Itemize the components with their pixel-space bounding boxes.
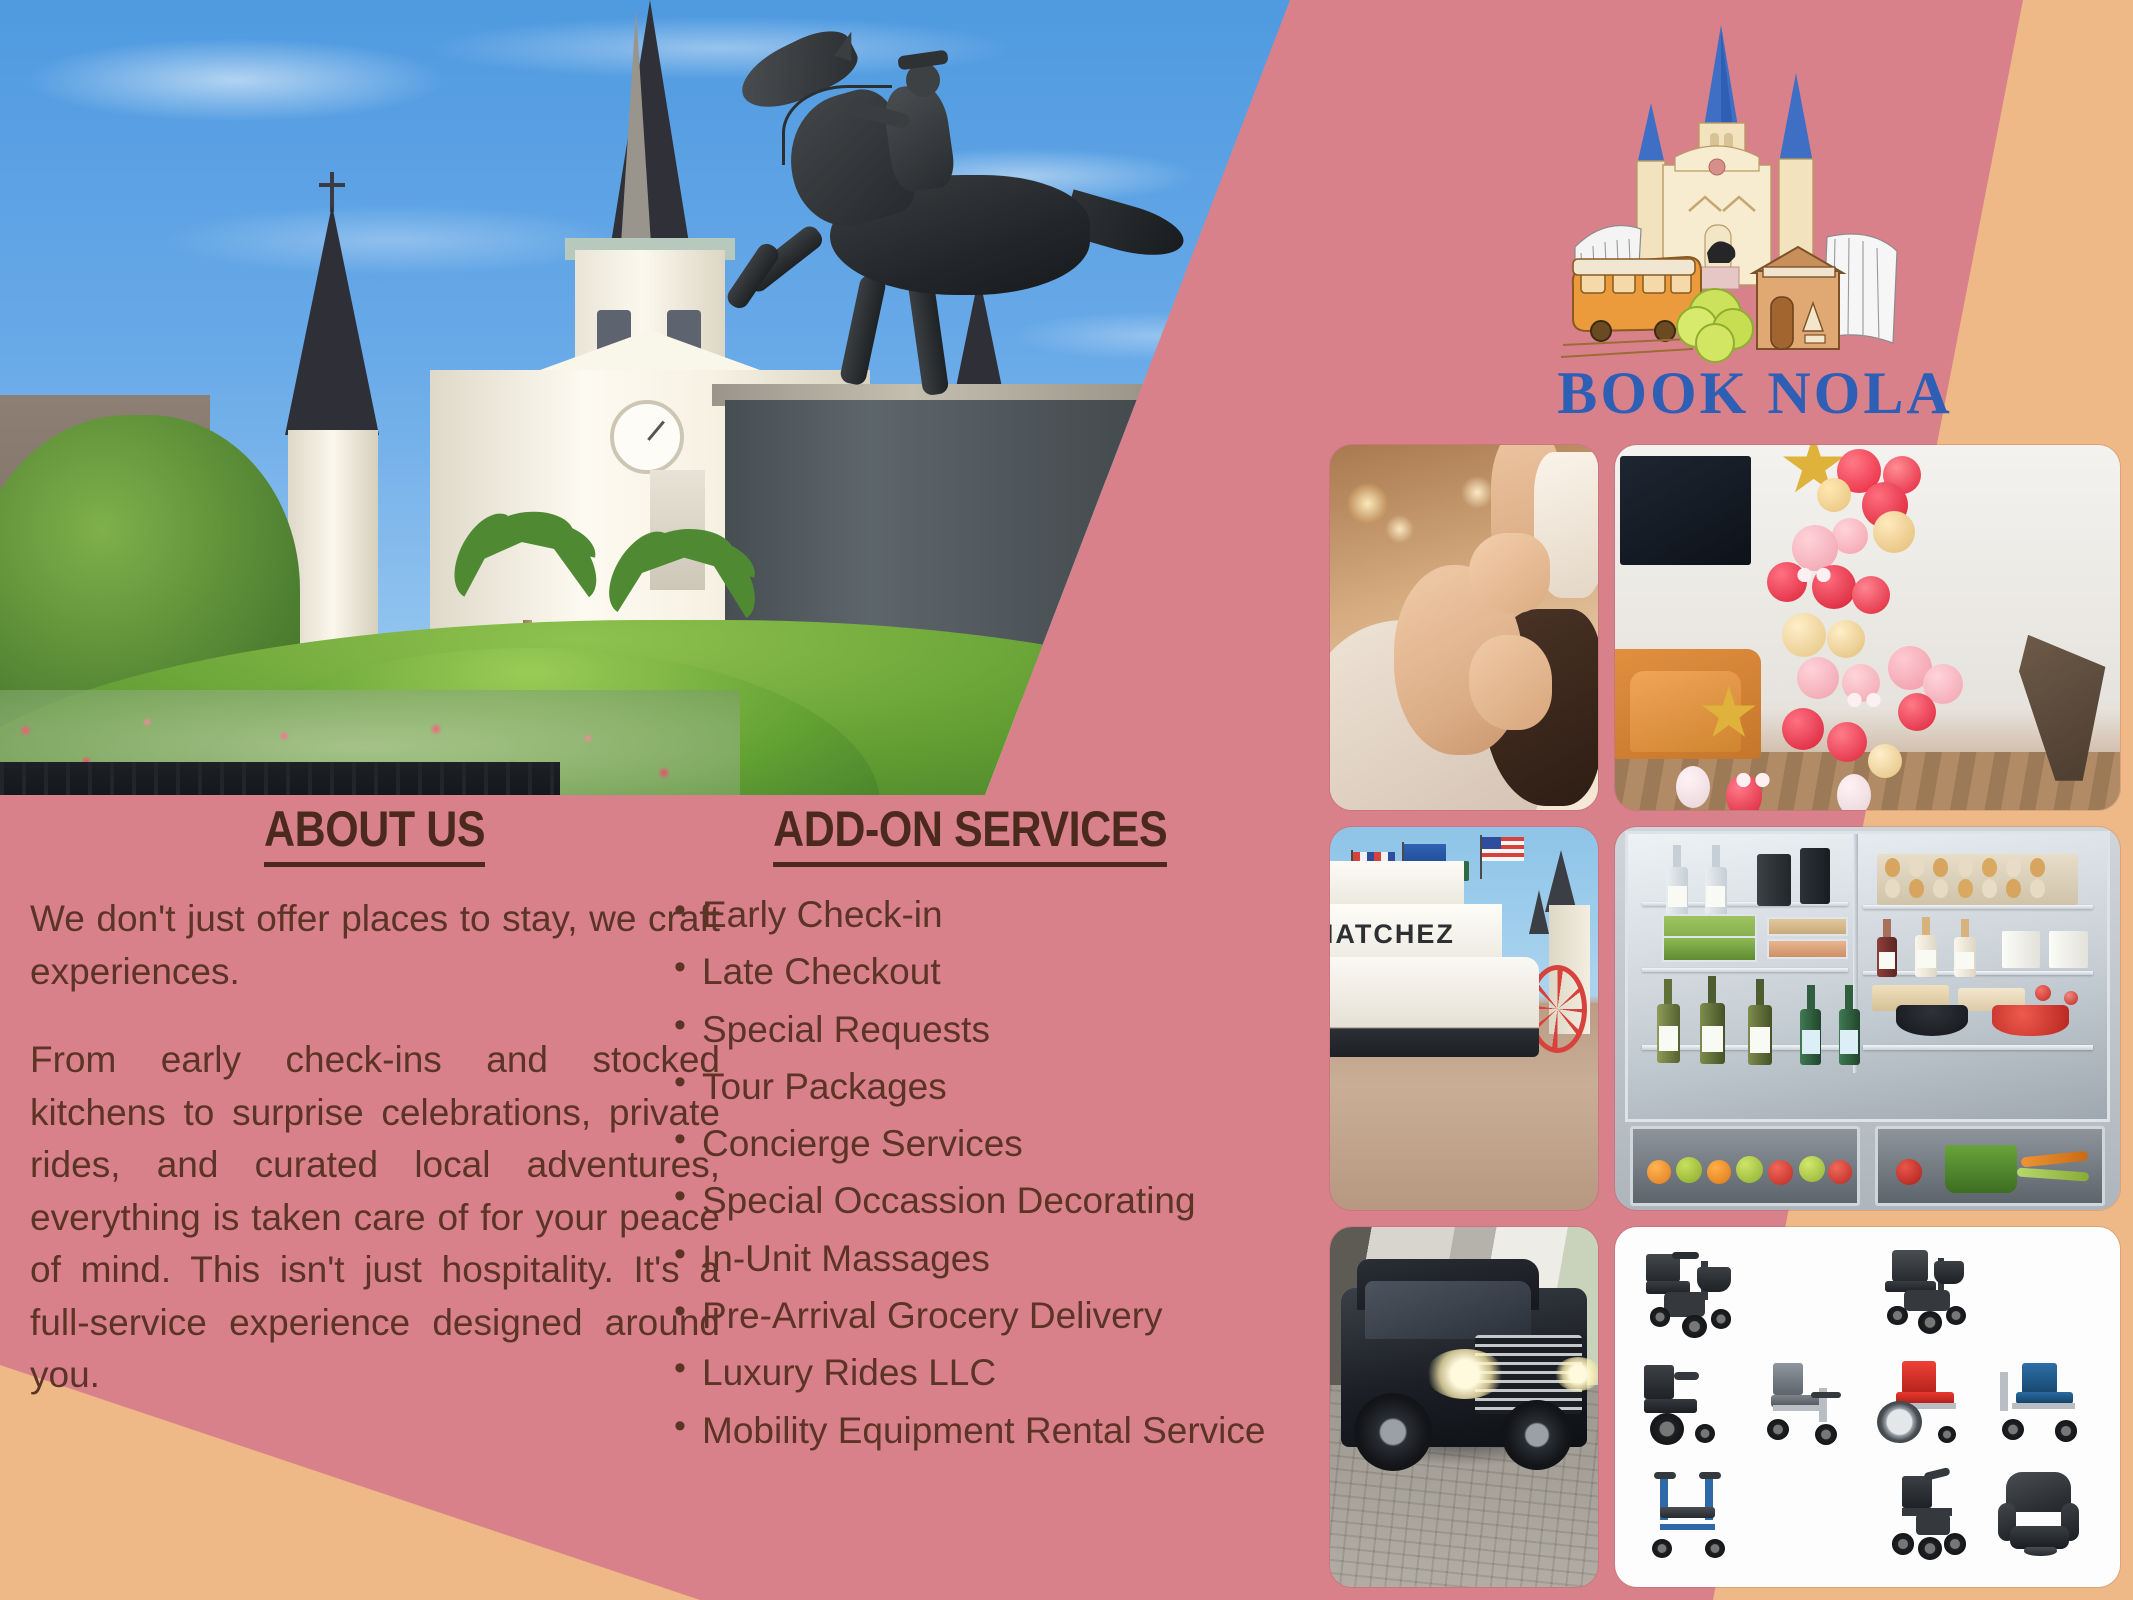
chair-frame — [1773, 1405, 1825, 1411]
chair-backrest — [1902, 1361, 1936, 1394]
gallery-grid: NATCHEZ — [1330, 445, 2120, 1590]
scooter-tiller — [1672, 1252, 1698, 1260]
services-heading-container: ADD-ON SERVICES — [670, 800, 1270, 867]
bread-container — [1767, 917, 1848, 937]
greens-container — [1662, 936, 1758, 962]
transport-wheelchair-grey — [1752, 1352, 1867, 1461]
fridge-shelf — [1863, 905, 2093, 909]
flag-canton — [1482, 837, 1500, 849]
wheelchair-red — [1869, 1352, 1984, 1461]
scooter-wheel — [1918, 1311, 1942, 1334]
chair-wheel — [2002, 1419, 2024, 1440]
yogurt-tub — [2049, 931, 2087, 968]
list-item[interactable]: Special Requests — [670, 1008, 1270, 1051]
champagne-bottle — [1748, 979, 1772, 1065]
knee-scooter — [1869, 1464, 1984, 1573]
suv-windshield — [1365, 1281, 1531, 1339]
chair-backrest — [1644, 1365, 1674, 1400]
power-wheelchair — [1635, 1352, 1750, 1461]
vegetable-drawer — [1875, 1126, 2105, 1206]
wheelchair-blue — [1985, 1352, 2100, 1461]
egg — [1958, 858, 1973, 877]
chair-caster — [1938, 1426, 1956, 1443]
egg — [1885, 879, 1900, 898]
fridge-shelf — [1863, 1045, 2093, 1050]
scooter-wheel — [1918, 1537, 1942, 1560]
walker-grip — [1654, 1472, 1676, 1479]
green-apple — [1799, 1156, 1825, 1182]
chair-wheel — [1767, 1419, 1789, 1440]
bottle-label — [1917, 950, 1935, 968]
gallery-item-spa-massage[interactable] — [1330, 445, 1598, 810]
egg — [1909, 858, 1924, 877]
egg — [1885, 858, 1900, 877]
balloon — [1792, 525, 1838, 571]
mobility-spacer — [1752, 1241, 1867, 1350]
recliner-base — [2024, 1547, 2056, 1557]
cathedral-spire-bg — [1545, 850, 1577, 912]
balloon — [1797, 657, 1839, 699]
egg — [2006, 879, 2021, 898]
chair-caster — [2055, 1420, 2077, 1441]
lift-recliner-chair — [1985, 1464, 2100, 1573]
rollator-walker — [1635, 1464, 1750, 1573]
walker-seat — [1660, 1507, 1714, 1519]
bottle — [1705, 845, 1727, 917]
list-item[interactable]: Tour Packages — [670, 1065, 1270, 1108]
fruit-drawer — [1630, 1126, 1860, 1206]
wheelchair-assembly — [1992, 1359, 2093, 1455]
milk-bottle — [1954, 919, 1976, 977]
bottle-label — [1879, 952, 1896, 969]
list-item[interactable]: Early Check-in — [670, 893, 1270, 936]
ribbon-bow-icon — [1736, 770, 1770, 790]
balloon — [1782, 708, 1824, 750]
bottle-neck — [1922, 917, 1930, 937]
red-apple — [1828, 1160, 1852, 1184]
about-paragraph-1: We don't just offer places to stay, we c… — [30, 893, 720, 998]
balloon — [1817, 478, 1851, 512]
chair-backrest — [2022, 1363, 2056, 1394]
leafy-greens — [1945, 1145, 2017, 1193]
balloon — [1873, 511, 1915, 553]
walker-wheel — [1705, 1539, 1725, 1558]
list-item[interactable]: Late Checkout — [670, 950, 1270, 993]
walker-assembly — [1642, 1470, 1743, 1566]
orange — [1707, 1160, 1731, 1184]
wheelchair-assembly — [1642, 1359, 1743, 1455]
bottle-neck — [1708, 976, 1716, 1006]
about-paragraph-2: From early check-ins and stocked kitchen… — [30, 1034, 720, 1402]
chair-seat — [1644, 1399, 1696, 1412]
list-item[interactable]: Pre-Arrival Grocery Delivery — [670, 1294, 1270, 1337]
bottle-label — [1702, 1026, 1723, 1052]
balloon — [1898, 693, 1936, 731]
gallery-item-stocked-fridge[interactable] — [1615, 827, 2120, 1210]
about-body: We don't just offer places to stay, we c… — [30, 893, 720, 1402]
chair-joystick — [1674, 1372, 1698, 1380]
ribbon-bow-icon — [1797, 565, 1831, 585]
celery — [2016, 1168, 2088, 1182]
juice-bottle — [1877, 919, 1897, 977]
about-us-section: ABOUT US We don't just offer places to s… — [30, 800, 720, 1402]
bottle-label — [1750, 1027, 1770, 1053]
sparkling-water-bottle — [1839, 985, 1860, 1065]
scooter-wheel — [1711, 1309, 1731, 1328]
chair-frame — [2012, 1403, 2075, 1409]
fridge-shelf — [1863, 971, 2093, 975]
therapist-hand-upper — [1469, 533, 1549, 613]
brand-logo[interactable]: BOOK NOLA — [1555, 15, 1955, 430]
ribbon-bow-icon — [1847, 690, 1881, 710]
chair-rear-wheel — [1650, 1413, 1684, 1446]
dark-jar — [1800, 848, 1830, 904]
scooter-seat-back — [1892, 1250, 1928, 1283]
list-item[interactable]: Concierge Services — [670, 1122, 1270, 1165]
strawberry-bowl — [1992, 1005, 2069, 1036]
gallery-item-luxury-suv[interactable] — [1330, 1227, 1598, 1587]
boat-hull — [1330, 957, 1539, 1057]
scooter-wheel — [1887, 1306, 1907, 1325]
egg — [1982, 879, 1997, 898]
egg-tray — [1877, 854, 2078, 905]
list-item[interactable]: In-Unit Massages — [670, 1237, 1270, 1280]
gallery-item-steamboat-natchez[interactable]: NATCHEZ — [1330, 827, 1598, 1210]
egg — [1982, 858, 1997, 877]
bottle-label — [1706, 886, 1724, 908]
chair-backrest — [1773, 1363, 1803, 1396]
chair-large-wheel — [1877, 1401, 1921, 1443]
sparkling-water-bottle — [1800, 985, 1821, 1065]
bottle — [1666, 845, 1688, 917]
egg — [1909, 879, 1924, 898]
walker-grip — [1699, 1472, 1721, 1479]
yogurt-tub — [2002, 931, 2040, 968]
scooter-wheel — [1946, 1306, 1966, 1325]
flag-cloth — [1482, 837, 1524, 861]
champagne-bottle — [1700, 976, 1725, 1064]
scooter-basket — [1934, 1261, 1964, 1284]
horse-hind-leg-a — [839, 273, 887, 386]
apple — [2064, 991, 2078, 1005]
dark-bowl — [1896, 1005, 1968, 1036]
wheel-front — [1354, 1393, 1432, 1471]
scooter-frame — [1916, 1514, 1950, 1535]
therapist-hand-lower — [1469, 635, 1552, 730]
mobility-spacer — [1985, 1241, 2100, 1350]
walker-frame — [1660, 1524, 1714, 1530]
scooter-chassis — [1664, 1292, 1704, 1317]
about-heading-container: ABOUT US — [30, 800, 720, 867]
egg — [2030, 879, 2045, 898]
green-apple — [1676, 1157, 1702, 1183]
egg — [2030, 858, 2045, 877]
iron-fence — [0, 762, 560, 798]
about-heading: ABOUT US — [264, 800, 485, 867]
bottle-label — [1802, 1030, 1820, 1054]
dark-jar — [1757, 854, 1791, 906]
tomato — [1896, 1159, 1922, 1185]
scooter-assembly — [1875, 1248, 1976, 1344]
balloon — [1676, 766, 1710, 808]
wheel-rear — [1502, 1400, 1572, 1470]
wheelchair-assembly — [1875, 1359, 1976, 1455]
gallery-item-mobility-equipment[interactable] — [1615, 1227, 2120, 1587]
list-item[interactable]: Special Occassion Decorating — [670, 1179, 1270, 1222]
chair-push-handle — [2000, 1372, 2008, 1410]
bottle-label — [1659, 1026, 1678, 1051]
steeple-spire-left — [285, 205, 379, 435]
brand-wordmark: BOOK NOLA — [1555, 359, 1955, 428]
milk-bottle — [1915, 917, 1937, 977]
knee-pad — [1902, 1476, 1932, 1509]
fridge-crisper-drawers — [1625, 1126, 2110, 1206]
bottle-label — [1840, 1030, 1858, 1054]
andrew-jackson-equestrian-statue — [720, 25, 1190, 395]
chair-caster — [1815, 1424, 1837, 1445]
cathedral-clock-icon — [610, 400, 684, 474]
egg — [1958, 879, 1973, 898]
services-heading: ADD-ON SERVICES — [773, 800, 1167, 867]
boat-name-label: NATCHEZ — [1330, 915, 1421, 953]
scooter-wheel — [1892, 1533, 1914, 1554]
balloon — [1868, 744, 1902, 778]
walker-wheel — [1652, 1539, 1672, 1558]
headlight-right-icon — [1555, 1357, 1598, 1391]
scooter-wheel — [1650, 1307, 1670, 1326]
scooter-wheel — [1944, 1533, 1966, 1554]
recliner-seat — [2010, 1526, 2069, 1549]
wine-bottle — [1657, 979, 1680, 1063]
chair-caster — [1695, 1424, 1715, 1443]
fridge-shelf — [1642, 968, 1848, 972]
gallery-item-balloon-decor[interactable] — [1615, 445, 2120, 810]
list-item[interactable]: Luxury Rides LLC — [670, 1351, 1270, 1394]
scooter-wheel — [1682, 1315, 1706, 1338]
balloon — [1852, 576, 1890, 614]
bottle-label — [1668, 886, 1686, 908]
cathedral-spire-bg-small — [1529, 890, 1549, 934]
recliner-backrest — [2006, 1472, 2071, 1512]
scooter-basket — [1697, 1267, 1731, 1292]
chair-armrest — [1811, 1392, 1841, 1399]
apple — [2035, 985, 2051, 1001]
green-apple — [1736, 1156, 1763, 1183]
scooter-handlebar — [1923, 1467, 1950, 1481]
bottle-label — [1955, 952, 1973, 969]
orange — [1647, 1160, 1671, 1184]
mobility-spacer — [1752, 1464, 1867, 1573]
egg — [1933, 879, 1948, 898]
egg — [1933, 858, 1948, 877]
red-apple — [1768, 1160, 1793, 1185]
cathedral-central-spire-highlight — [620, 10, 652, 260]
knee-scooter-assembly — [1875, 1470, 1976, 1566]
scooter-assembly — [1642, 1248, 1743, 1344]
services-list: Early Check-in Late Checkout Special Req… — [670, 893, 1270, 1452]
meat-container — [1767, 939, 1848, 959]
mobility-scooter-2 — [1869, 1241, 1984, 1350]
wheelchair-assembly — [1759, 1359, 1860, 1455]
balloon — [1827, 620, 1865, 658]
add-on-services-section: ADD-ON SERVICES Early Check-in Late Chec… — [670, 800, 1270, 1466]
mobility-equipment-layout — [1635, 1241, 2100, 1572]
carrot — [2021, 1151, 2089, 1168]
fridge-interior — [1625, 831, 2110, 1122]
wall-tv — [1620, 456, 1751, 566]
balloon — [1782, 613, 1826, 657]
recliner-assembly — [1992, 1470, 2093, 1566]
egg — [2006, 858, 2021, 877]
list-item[interactable]: Mobility Equipment Rental Service — [670, 1409, 1270, 1452]
mobility-scooter-1 — [1635, 1241, 1750, 1350]
